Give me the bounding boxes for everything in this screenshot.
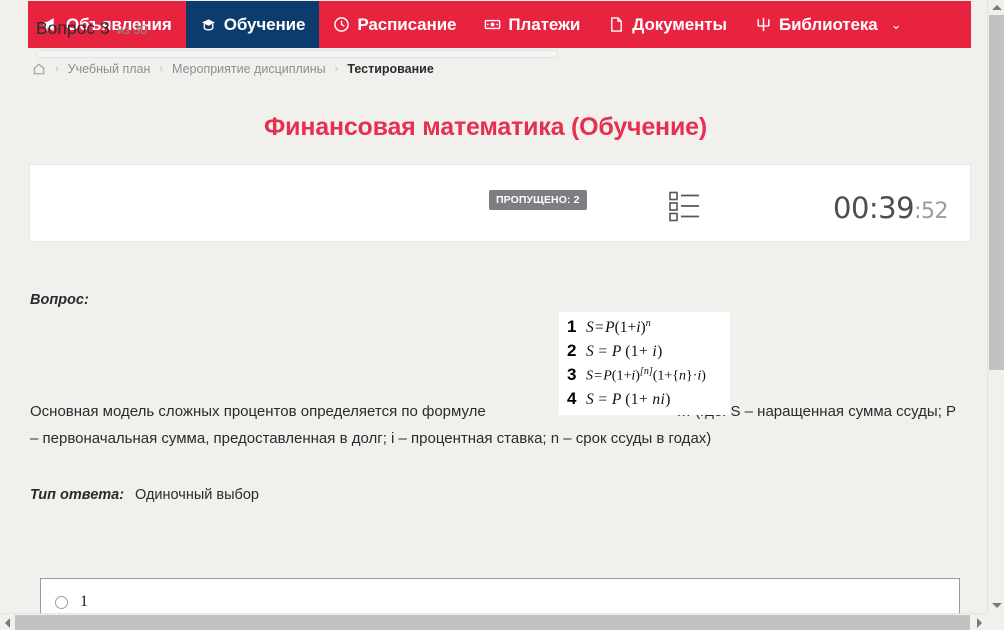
- countdown-timer: 00:39:52: [833, 191, 948, 225]
- vertical-scrollbar[interactable]: [987, 0, 1004, 613]
- scroll-down-arrow-icon[interactable]: [988, 599, 1004, 612]
- formula-options-image: 1 S = P(1+i)n 2 S = P (1+ i) 3 S = P(1+i…: [559, 312, 730, 415]
- formula-expression: S = P(1+i)n: [586, 318, 651, 337]
- breadcrumb-item-discipline-event[interactable]: Мероприятие дисциплины: [172, 62, 326, 76]
- horizontal-scrollbar-thumb[interactable]: [15, 615, 970, 630]
- page-content: Объявления Обучение Расписание: [0, 0, 987, 613]
- answer-type-value: Одиночный выбор: [135, 487, 259, 503]
- formula-number: 4: [567, 389, 586, 409]
- formula-row: 3 S = P(1+i)[n](1+{n}·i): [567, 365, 724, 389]
- library-icon: [755, 16, 772, 33]
- breadcrumb-separator: ›: [159, 63, 163, 75]
- formula-row: 2 S = P (1+ i): [567, 341, 724, 365]
- document-icon: [608, 16, 625, 33]
- scroll-right-arrow-icon[interactable]: [973, 614, 986, 630]
- answers-container: 1: [40, 578, 960, 613]
- radio-button-icon[interactable]: [55, 596, 68, 609]
- breadcrumb-item-curriculum[interactable]: Учебный план: [68, 62, 151, 76]
- answer-option-label: 1: [80, 593, 88, 611]
- status-badge-skipped: ПРОПУЩЕНО: 2: [489, 190, 587, 210]
- vertical-scrollbar-thumb[interactable]: [989, 15, 1004, 370]
- formula-expression: S = P (1+ ni): [586, 391, 671, 409]
- question-section-label: Вопрос:: [30, 292, 89, 308]
- nav-label: Библиотека: [779, 15, 878, 35]
- question-progress-block: Вопрос 3 из 30: [36, 18, 558, 58]
- formula-number: 2: [567, 341, 586, 361]
- formula-number: 3: [567, 365, 586, 385]
- nav-item-library[interactable]: Библиотека ⌄: [741, 1, 916, 48]
- breadcrumb: › Учебный план › Мероприятие дисциплины …: [32, 62, 434, 76]
- question-total-label: из 30: [117, 23, 147, 37]
- formula-row: 4 S = P (1+ ni): [567, 389, 724, 413]
- formula-number: 1: [567, 317, 586, 337]
- page-title: Финансовая математика (Обучение): [0, 113, 971, 142]
- timer-seconds: :52: [914, 199, 948, 224]
- chevron-down-icon[interactable]: ⌄: [891, 17, 902, 33]
- breadcrumb-separator: ›: [55, 63, 59, 75]
- home-icon[interactable]: [32, 62, 46, 76]
- timer-minutes: 00:39: [833, 191, 914, 225]
- nav-label: Документы: [632, 15, 727, 35]
- breadcrumb-separator: ›: [335, 63, 339, 75]
- question-progress-bar: [36, 50, 558, 58]
- formula-row: 1 S = P(1+i)n: [567, 317, 724, 341]
- question-text: Основная модель сложных процентов опреде…: [30, 398, 960, 452]
- formula-expression: S = P(1+i)[n](1+{n}·i): [586, 366, 706, 385]
- browser-viewport: Объявления Обучение Расписание: [0, 0, 1004, 630]
- question-text-before: Основная модель сложных процентов опреде…: [30, 403, 486, 420]
- answer-type-label: Тип ответа:: [30, 487, 124, 503]
- scrollbar-corner: [987, 613, 1004, 630]
- question-number-label: Вопрос 3: [36, 18, 110, 38]
- question-list-icon[interactable]: [669, 189, 707, 224]
- nav-item-documents[interactable]: Документы: [594, 1, 741, 48]
- scroll-left-arrow-icon[interactable]: [1, 614, 14, 630]
- answer-option-1[interactable]: 1: [41, 579, 959, 611]
- formula-expression: S = P (1+ i): [586, 343, 663, 361]
- horizontal-scrollbar[interactable]: [0, 613, 1004, 630]
- scroll-up-arrow-icon[interactable]: [988, 1, 1004, 14]
- breadcrumb-item-testing: Тестирование: [347, 62, 434, 76]
